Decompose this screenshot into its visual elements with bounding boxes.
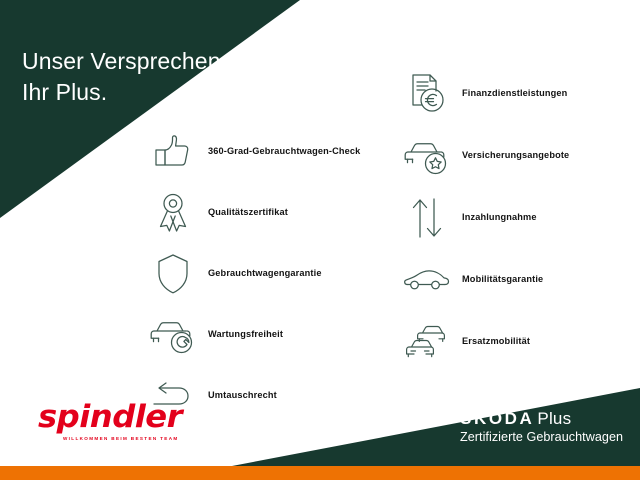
feature-item: Versicherungsangebote xyxy=(400,130,638,182)
feature-item: Gebrauchtwagengarantie xyxy=(146,248,376,300)
headline-line-1: Unser Versprechen. xyxy=(22,48,227,74)
feature-label: Inzahlungnahme xyxy=(462,212,537,223)
feature-item: 360-Grad-Gebrauchtwagen-Check xyxy=(146,126,376,178)
feature-item: Wartungsfreiheit xyxy=(146,309,376,361)
feature-label: Gebrauchtwagengarantie xyxy=(208,268,322,279)
feature-label: Umtauschrecht xyxy=(208,390,277,401)
skoda-plus-suffix: Plus xyxy=(537,409,571,428)
spindler-wordmark: spindler xyxy=(38,402,204,433)
feature-label: Versicherungsangebote xyxy=(462,150,569,161)
feature-list-left: 360-Grad-Gebrauchtwagen-Check Qualitätsz… xyxy=(146,126,376,431)
document-euro-icon xyxy=(400,71,454,117)
skoda-plus-logo: ŠKODAPlus Zertifizierte Gebrauchtwagen xyxy=(460,410,623,444)
feature-item: Inzahlungnahme xyxy=(400,192,638,244)
page-title: Unser Versprechen. Ihr Plus. xyxy=(22,16,227,137)
car-side-icon xyxy=(400,257,454,303)
feature-label: Mobilitätsgarantie xyxy=(462,274,543,285)
car-star-icon xyxy=(400,133,454,179)
spindler-tagline: WILLKOMMEN BEIM BESTEN TEAM xyxy=(63,436,198,441)
feature-label: Finanzdienstleistungen xyxy=(462,88,567,99)
feature-item: Finanzdienstleistungen xyxy=(400,68,638,120)
skoda-subtitle: Zertifizierte Gebrauchtwagen xyxy=(460,430,623,444)
feature-label: 360-Grad-Gebrauchtwagen-Check xyxy=(208,146,360,157)
spindler-logo: spindler WILLKOMMEN BEIM BESTEN TEAM xyxy=(38,402,198,441)
up-down-arrows-icon xyxy=(400,195,454,241)
feature-item: Mobilitätsgarantie xyxy=(400,254,638,306)
feature-item: Ersatzmobilität xyxy=(400,316,638,368)
shield-icon xyxy=(146,251,200,297)
feature-item: Qualitätszertifikat xyxy=(146,187,376,239)
feature-label: Ersatzmobilität xyxy=(462,336,530,347)
headline-line-2: Ihr Plus. xyxy=(22,77,227,107)
promo-banner: Unser Versprechen. Ihr Plus. 360-Grad-Ge… xyxy=(0,0,640,480)
orange-footer-bar xyxy=(0,466,640,480)
feature-label: Wartungsfreiheit xyxy=(208,329,283,340)
two-cars-icon xyxy=(400,319,454,365)
feature-list-right: Finanzdienstleistungen Versicherungsange… xyxy=(400,68,638,378)
feature-label: Qualitätszertifikat xyxy=(208,207,288,218)
thumbs-up-icon xyxy=(146,129,200,175)
car-wrench-icon xyxy=(146,312,200,358)
skoda-brand-name: ŠKODA xyxy=(460,409,534,428)
award-rosette-icon xyxy=(146,190,200,236)
skoda-brand-line: ŠKODAPlus xyxy=(460,410,623,428)
